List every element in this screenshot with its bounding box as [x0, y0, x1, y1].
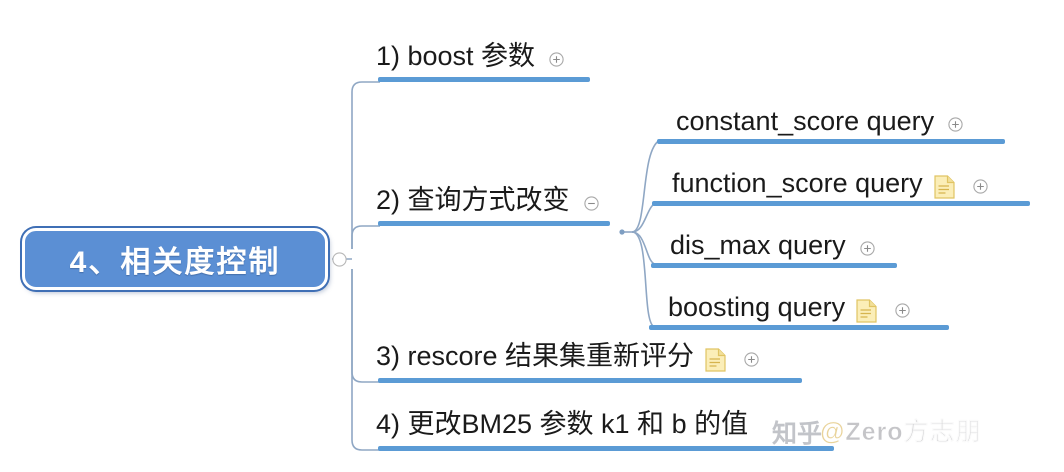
topic-constant-score[interactable]: constant_score query: [672, 95, 964, 141]
watermark-at-symbol: @: [820, 418, 845, 446]
topic-constant-score-underline: [657, 139, 1005, 144]
expand-plus-icon[interactable]: [548, 51, 565, 68]
expand-plus-icon[interactable]: [972, 178, 989, 195]
watermark: @Zero方志朋: [820, 412, 982, 448]
topic-bm25[interactable]: 4) 更改BM25 参数 k1 和 b 的值: [372, 398, 750, 444]
topic-query-mode[interactable]: 2) 查询方式改变: [372, 174, 600, 220]
topic-boost-label: 1) boost 参数: [372, 38, 537, 76]
watermark-handle: Zero方志朋: [845, 418, 981, 446]
topic-bm25-underline: [378, 446, 834, 451]
topic-query-mode-underline: [378, 221, 610, 226]
root-label: 4、相关度控制: [70, 237, 281, 281]
expand-plus-icon[interactable]: [859, 240, 876, 257]
note-icon[interactable]: [856, 299, 877, 323]
topic-boosting-underline: [649, 325, 949, 330]
topic-dis-max-label: dis_max query: [666, 227, 848, 265]
topic-boost[interactable]: 1) boost 参数: [372, 30, 565, 76]
topic-boosting-label: boosting query: [664, 289, 847, 327]
topic-query-mode-label: 2) 查询方式改变: [372, 182, 572, 220]
topic-bm25-label: 4) 更改BM25 参数 k1 和 b 的值: [372, 406, 750, 444]
topic-rescore[interactable]: 3) rescore 结果集重新评分: [372, 330, 760, 376]
topic-function-score[interactable]: function_score query: [668, 157, 989, 203]
topic-dis-max[interactable]: dis_max query: [666, 219, 876, 265]
expand-plus-icon[interactable]: [947, 116, 964, 133]
topic-function-score-underline: [652, 201, 1030, 206]
topic-dis-max-underline: [651, 263, 897, 268]
topic-constant-score-label: constant_score query: [672, 103, 936, 141]
mindmap-canvas: 4、相关度控制 1) boost 参数 2) 查询方式改变 3) rescore…: [0, 0, 1064, 472]
root-collapse-handle-icon[interactable]: [331, 251, 348, 268]
expand-plus-icon[interactable]: [743, 351, 760, 368]
topic-boosting[interactable]: boosting query: [664, 281, 911, 327]
expand-plus-icon[interactable]: [894, 302, 911, 319]
note-icon[interactable]: [934, 175, 955, 199]
zhihu-logo: 知乎: [772, 414, 822, 450]
topic-rescore-label: 3) rescore 结果集重新评分: [372, 338, 696, 376]
topic-boost-underline: [378, 77, 590, 82]
note-icon[interactable]: [705, 348, 726, 372]
root-node[interactable]: 4、相关度控制: [22, 228, 328, 290]
topic-rescore-underline: [378, 378, 802, 383]
topic-function-score-label: function_score query: [668, 165, 925, 203]
collapse-minus-icon[interactable]: [583, 195, 600, 212]
